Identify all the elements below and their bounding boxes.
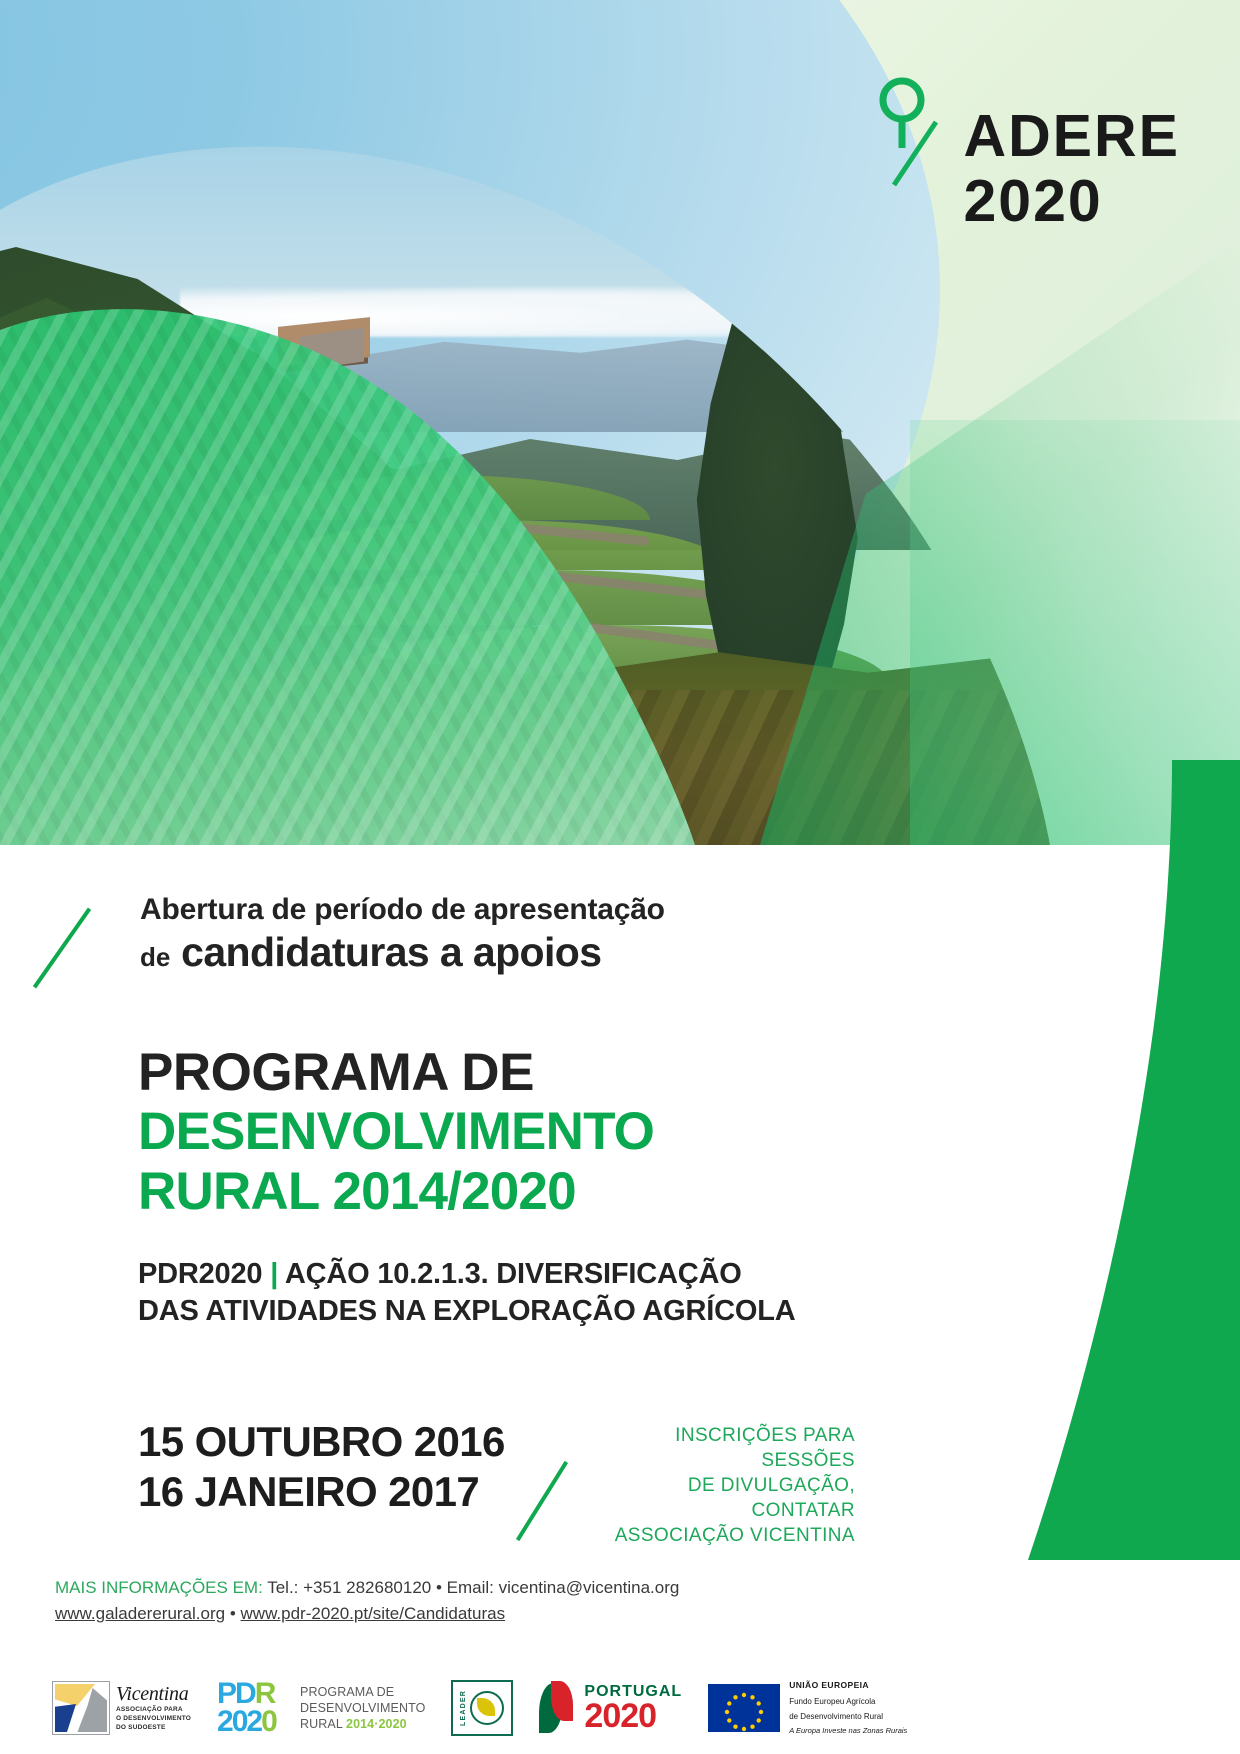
vicentina-text: Vicentina ASSOCIAÇÃO PARA O DESENVOLVIME…: [116, 1684, 191, 1733]
subtitle-line-2: DAS ATIVIDADES NA EXPLORAÇÃO AGRÍCOLA: [138, 1293, 978, 1330]
vicentina-sub-2: O DESENVOLVIMENTO: [116, 1715, 191, 1724]
leader-leaf-icon: [477, 1698, 495, 1716]
portugal-red-leaf: [551, 1681, 573, 1721]
adere-name: ADERE: [963, 108, 1180, 166]
contact-separator-1: •: [436, 1578, 442, 1597]
title-line-2: DESENVOLVIMENTO: [138, 1102, 998, 1161]
eu-fund-2: de Desenvolvimento Rural: [789, 1711, 907, 1722]
vicentina-sub-1: ASSOCIAÇÃO PARA: [116, 1706, 191, 1715]
poster-root: ADERE 2020 Abertura de período de aprese…: [0, 0, 1240, 1754]
title-line-1: PROGRAMA DE: [138, 1043, 998, 1102]
contact-block: MAIS INFORMAÇÕES EM: Tel.: +351 28268012…: [55, 1575, 955, 1627]
adere-year: 2020: [963, 172, 1180, 231]
vicentina-sub: ASSOCIAÇÃO PARA O DESENVOLVIMENTO DO SUD…: [116, 1706, 191, 1732]
contact-label: MAIS INFORMAÇÕES EM:: [55, 1578, 263, 1597]
eu-fund-1: Fundo Europeu Agrícola: [789, 1696, 907, 1707]
eu-flag-icon: [708, 1684, 780, 1732]
subtitle-pipe: |: [270, 1258, 278, 1290]
pdr2020-rural: RURAL: [300, 1717, 342, 1731]
title-block: PROGRAMA DE DESENVOLVIMENTO RURAL 2014/2…: [138, 1043, 998, 1221]
portugal2020-mark-icon: [539, 1681, 577, 1735]
contact-email: Email: vicentina@vicentina.org: [447, 1578, 680, 1597]
leader-circle-icon: [470, 1691, 504, 1725]
inscriptions-line-2: DE DIVULGAÇÃO, CONTATAR: [595, 1473, 855, 1523]
eu-title: UNIÃO EUROPEIA: [789, 1680, 907, 1692]
contact-line-2: www.galadererural.org • www.pdr-2020.pt/…: [55, 1601, 955, 1627]
slash-accent-top: [33, 908, 91, 989]
partner-logo-bar: Vicentina ASSOCIAÇÃO PARA O DESENVOLVIME…: [52, 1672, 1192, 1744]
subtitle-action: AÇÃO 10.2.1.3. DIVERSIFICAÇÃO: [285, 1258, 742, 1290]
date-1: 15 OUTUBRO 2016: [138, 1417, 505, 1467]
pdr2020-mark-top: PDR: [217, 1680, 291, 1708]
pdr2020-line-1: PROGRAMA DE: [300, 1684, 425, 1700]
adere-wordmark: ADERE 2020: [963, 108, 1180, 231]
portugal2020-text: PORTUGAL 2020: [584, 1684, 682, 1732]
adere-logo[interactable]: ADERE 2020: [850, 70, 1180, 250]
contact-url-2[interactable]: www.pdr-2020.pt/site/Candidaturas: [241, 1604, 506, 1623]
contact-phone: Tel.: +351 282680120: [267, 1578, 431, 1597]
inscriptions-line-1: INSCRIÇÕES PARA SESSÕES: [595, 1423, 855, 1473]
eu-logo: UNIÃO EUROPEIA Fundo Europeu Agrícola de…: [708, 1680, 907, 1736]
pdr2020-mark-bottom: 2020: [217, 1708, 291, 1736]
vicentina-sub-3: DO SUDOESTE: [116, 1724, 191, 1733]
subtitle-line-1: PDR2020 | AÇÃO 10.2.1.3. DIVERSIFICAÇÃO: [138, 1256, 978, 1293]
pdr2020-years: 2014·2020: [346, 1717, 407, 1731]
pdr2020-line-2: DESENVOLVIMENTO: [300, 1700, 425, 1716]
inscriptions-line-3: ASSOCIAÇÃO VICENTINA: [595, 1523, 855, 1548]
dates-block: 15 OUTUBRO 2016 16 JANEIRO 2017: [138, 1417, 505, 1516]
pdr2020-line-3: RURAL 2014·2020: [300, 1716, 425, 1732]
pdr2020-zero: 0: [261, 1705, 276, 1738]
portugal2020-logo: PORTUGAL 2020: [539, 1681, 682, 1735]
date-2: 16 JANEIRO 2017: [138, 1467, 505, 1517]
pdr2020-mark-icon: PDR 2020: [217, 1680, 291, 1736]
inscriptions-note: INSCRIÇÕES PARA SESSÕES DE DIVULGAÇÃO, C…: [595, 1423, 855, 1548]
contact-line-1: MAIS INFORMAÇÕES EM: Tel.: +351 28268012…: [55, 1575, 955, 1601]
vicentina-name: Vicentina: [116, 1684, 191, 1705]
kicker-line-2: de candidaturas a apoios: [140, 929, 860, 976]
pdr2020-logo: PDR 2020 PROGRAMA DE DESENVOLVIMENTO RUR…: [217, 1680, 425, 1736]
vicentina-logo: Vicentina ASSOCIAÇÃO PARA O DESENVOLVIME…: [52, 1681, 191, 1735]
pdr2020-202: 202: [217, 1705, 261, 1738]
adere-pin-icon: [883, 81, 936, 185]
eu-tagline: A Europa Investe nas Zonas Rurais: [789, 1726, 907, 1736]
leader-label: LEADER: [460, 1690, 467, 1726]
subtitle-program: PDR2020: [138, 1258, 262, 1290]
eu-text: UNIÃO EUROPEIA Fundo Europeu Agrícola de…: [789, 1680, 907, 1736]
vicentina-mark-icon: [52, 1681, 110, 1735]
contact-separator-2: •: [230, 1604, 236, 1623]
slash-accent-dates: [516, 1461, 568, 1541]
title-line-3: RURAL 2014/2020: [138, 1162, 998, 1221]
kicker-block: Abertura de período de apresentação de c…: [140, 893, 860, 975]
pdr2020-text: PROGRAMA DE DESENVOLVIMENTO RURAL 2014·2…: [300, 1684, 425, 1733]
kicker-line-2-big: candidaturas a apoios: [181, 929, 601, 975]
contact-url-1[interactable]: www.galadererural.org: [55, 1604, 225, 1623]
kicker-line-2-small: de: [140, 942, 170, 972]
hero-image-area: ADERE 2020: [0, 0, 1240, 845]
subtitle-block: PDR2020 | AÇÃO 10.2.1.3. DIVERSIFICAÇÃO …: [138, 1256, 978, 1330]
portugal-year: 2020: [584, 1700, 682, 1732]
leader-logo: LEADER: [451, 1680, 513, 1736]
kicker-line-1: Abertura de período de apresentação: [140, 893, 860, 927]
